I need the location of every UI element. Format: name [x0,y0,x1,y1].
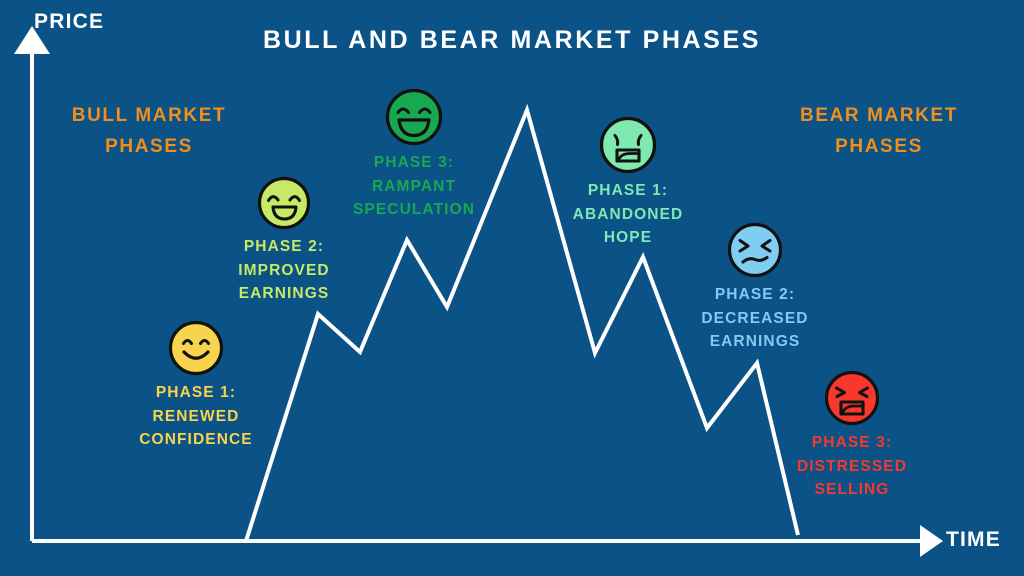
phase-marker-bear-phase-3: PHASE 3: DISTRESSED SELLING [760,370,944,502]
phase-label-line2: RAMPANT [372,178,456,195]
phase-label-bull-phase-2: PHASE 2: IMPROVED EARNINGS [189,235,379,306]
phase-label-bull-phase-3: PHASE 3: RAMPANT SPECULATION [320,151,508,222]
phase-label-line2: DECREASED [701,310,808,327]
bull-market-heading-line2: PHASES [105,136,193,157]
beaming-face-icon [385,88,443,146]
anxious-face-icon [599,116,657,174]
phase-label-line2: DISTRESSED [797,458,907,475]
phase-label-line1: PHASE 3: [374,154,454,171]
phase-label-bear-phase-3: PHASE 3: DISTRESSED SELLING [760,431,944,502]
x-axis-label: TIME [946,529,1001,550]
phase-marker-bull-phase-1: PHASE 1: RENEWED CONFIDENCE [96,320,296,452]
phase-label-line3: EARNINGS [710,333,801,350]
phase-marker-bull-phase-3: PHASE 3: RAMPANT SPECULATION [320,88,508,222]
phase-label-line3: HOPE [604,229,652,246]
phase-label-bull-phase-1: PHASE 1: RENEWED CONFIDENCE [96,381,296,452]
phase-label-line2: ABANDONED [573,206,684,223]
phase-label-line3: SELLING [815,481,890,498]
bull-market-heading-line1: BULL MARKET [72,105,226,126]
distressed-face-icon [824,370,880,426]
bear-market-heading: BEAR MARKET PHASES [786,100,972,163]
phase-label-line1: PHASE 1: [588,182,668,199]
page-title: BULL AND BEAR MARKET PHASES [0,28,1024,53]
bear-market-heading-line1: BEAR MARKET [800,105,958,126]
phase-label-line1: PHASE 2: [715,286,795,303]
phase-marker-bear-phase-2: PHASE 2: DECREASED EARNINGS [660,222,850,354]
phase-label-line3: EARNINGS [239,285,330,302]
grinning-squinting-face-icon [257,176,311,230]
phase-label-bear-phase-2: PHASE 2: DECREASED EARNINGS [660,283,850,354]
phase-label-line2: IMPROVED [238,262,329,279]
phase-label-line1: PHASE 2: [244,238,324,255]
phase-label-line3: CONFIDENCE [139,431,252,448]
infographic-canvas: PRICE TIME BULL AND BEAR MARKET PHASES B… [0,0,1024,576]
confounded-face-icon [727,222,783,278]
phase-label-line1: PHASE 1: [156,384,236,401]
bear-market-heading-line2: PHASES [835,136,923,157]
phase-label-line1: PHASE 3: [812,434,892,451]
smiling-face-icon [168,320,224,376]
bull-market-heading: BULL MARKET PHASES [58,100,240,163]
phase-label-line3: SPECULATION [353,201,475,218]
phase-label-line2: RENEWED [153,408,240,425]
